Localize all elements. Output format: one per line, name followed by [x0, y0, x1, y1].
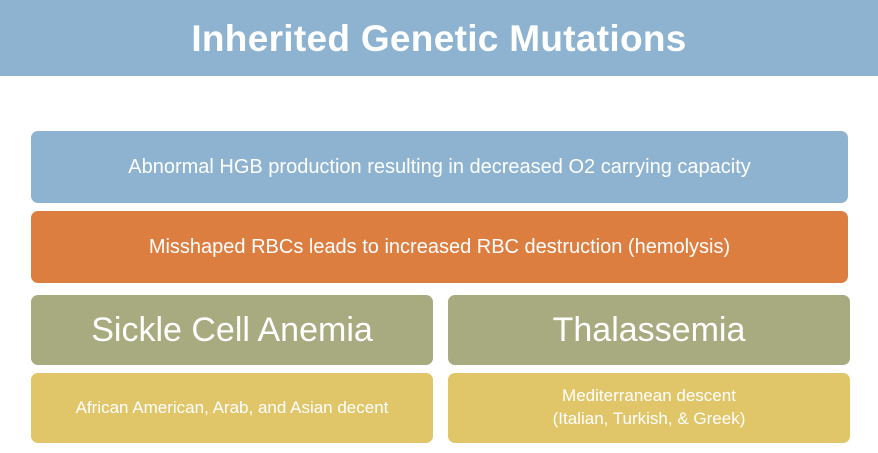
title-bar: Inherited Genetic Mutations: [0, 0, 878, 76]
population-line-2-thalassemia: (Italian, Turkish, & Greek): [553, 408, 746, 431]
mechanism-text: Abnormal HGB production resulting in dec…: [128, 156, 751, 179]
slide-canvas: Inherited Genetic Mutations Abnormal HGB…: [0, 0, 878, 453]
population-band-sickle-cell: African American, Arab, and Asian decent: [31, 373, 433, 443]
disease-label-sickle-cell: Sickle Cell Anemia: [91, 311, 373, 350]
disease-band-thalassemia: Thalassemia: [448, 295, 850, 365]
disease-label-thalassemia: Thalassemia: [553, 311, 746, 350]
consequence-text: Misshaped RBCs leads to increased RBC de…: [149, 236, 730, 259]
population-band-thalassemia: Mediterranean descent (Italian, Turkish,…: [448, 373, 850, 443]
mechanism-band: Abnormal HGB production resulting in dec…: [31, 131, 848, 203]
page-title: Inherited Genetic Mutations: [191, 20, 686, 57]
population-line-1-thalassemia: Mediterranean descent: [553, 385, 746, 408]
population-line-1-sickle-cell: African American, Arab, and Asian decent: [76, 397, 389, 420]
disease-band-sickle-cell: Sickle Cell Anemia: [31, 295, 433, 365]
consequence-band: Misshaped RBCs leads to increased RBC de…: [31, 211, 848, 283]
